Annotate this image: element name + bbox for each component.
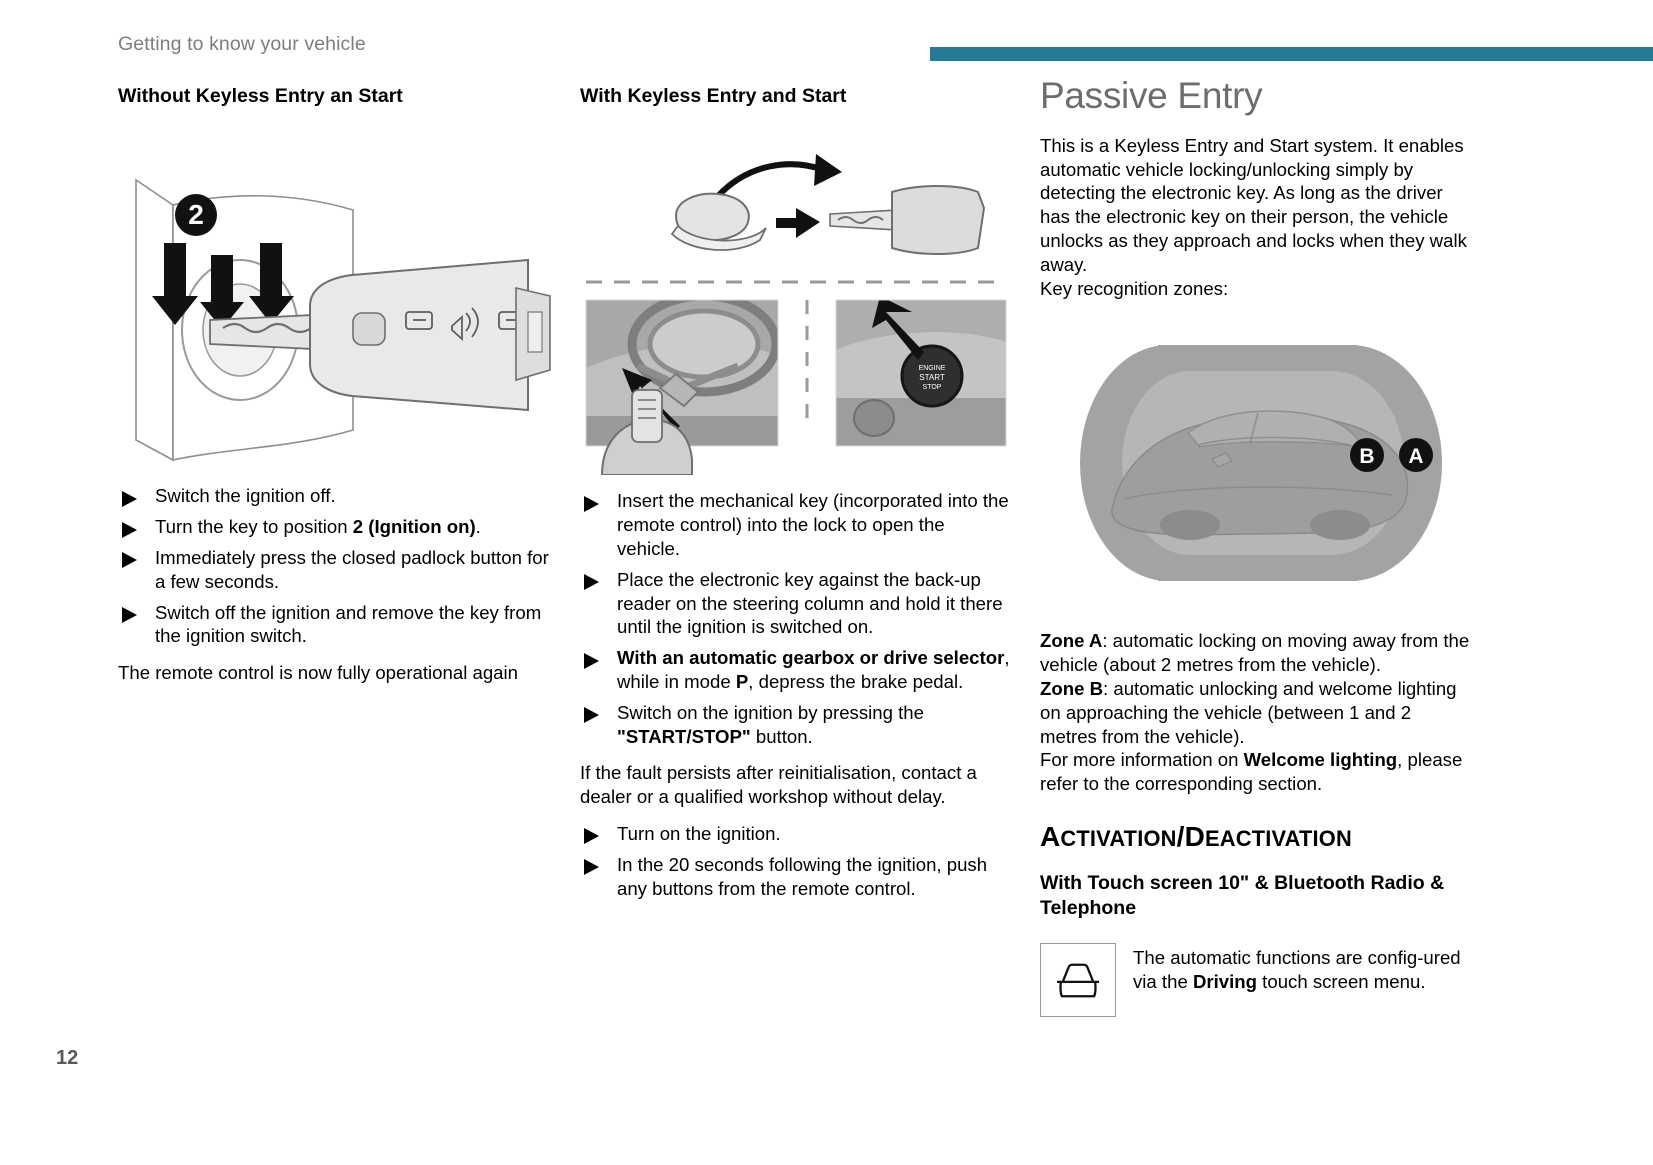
welcome-lighting-term: Welcome lighting [1244,749,1398,770]
page-title: Passive Entry [1040,77,1473,116]
svg-text:2: 2 [188,199,204,230]
key-recognition-zones-diagram: B A [1040,313,1473,613]
step-text: Switch off the ignition and remove the k… [155,602,541,647]
car-front-icon [1040,943,1116,1017]
emphasis-text: P [736,671,748,692]
step-text: Immediately press the closed padlock but… [155,547,549,592]
svg-text:STOP: STOP [923,384,942,391]
key-recognition-zones-label: Key recognition zones: [1040,277,1473,301]
page-number: 12 [56,1047,78,1070]
welcome-lighting-paragraph: For more information on Welcome lighting… [1040,748,1473,796]
step-text: Turn on the ignition. [617,823,781,844]
middle-step-list-secondary: Turn on the ignition.In the 20 seconds f… [580,822,1012,900]
column-left: Without Keyless Entry an Start 2 [118,84,558,698]
passive-entry-intro: This is a Keyless Entry and Start system… [1040,134,1473,277]
step-text: button. [751,726,813,747]
activation-deactivation-heading: ACTIVATION/DEACTIVATION [1040,822,1473,853]
middle-step-item: Turn on the ignition. [580,822,1012,846]
zone-marker-a: A [1408,445,1423,468]
zone-b-text: : automatic unlocking and welcome lighti… [1040,678,1457,747]
middle-step-item: Switch on the ignition by pressing the "… [580,701,1012,749]
touchscreen-subheading: With Touch screen 10" & Bluetooth Radio … [1040,871,1473,921]
left-step-item: Turn the key to position 2 (Ignition on)… [118,515,558,539]
left-closing-paragraph: The remote control is now fully operatio… [118,661,558,685]
column-middle: With Keyless Entry and Start [580,84,1012,913]
step-text: Switch the ignition off. [155,485,336,506]
step-text: Switch on the ignition by pressing the [617,702,924,723]
emphasis-text: 2 (Ignition on) [353,516,476,537]
driving-menu-text: The automatic functions are config-ured … [1133,943,1473,994]
middle-step-item: With an automatic gearbox or drive selec… [580,646,1012,694]
zone-a-label: Zone A [1040,630,1102,651]
step-text: Place the electronic key against the bac… [617,569,1003,638]
heading-slash: / [1177,821,1185,852]
svg-text:START: START [919,373,945,382]
middle-step-item: In the 20 seconds following the ignition… [580,853,1012,901]
deactivation-rest: EACTIVATION [1205,826,1352,851]
deactivation-initial: D [1185,821,1205,852]
header-rule [930,47,1653,61]
activation-rest: CTIVATION [1060,826,1176,851]
driving-menu-note: The automatic functions are config-ured … [1040,943,1473,1017]
activation-initial: A [1040,821,1060,852]
step-text: . [476,516,481,537]
zone-b-description: Zone B: automatic unlocking and welcome … [1040,677,1473,748]
left-column-title: Without Keyless Entry an Start [118,84,558,108]
middle-step-item: Insert the mechanical key (incorporated … [580,489,1012,560]
zone-a-description: Zone A: automatic locking on moving away… [1040,629,1473,677]
svg-text:ENGINE: ENGINE [919,365,946,372]
zone-b-label: Zone B [1040,678,1103,699]
step-text: , depress the brake pedal. [748,671,963,692]
middle-step-list-primary: Insert the mechanical key (incorporated … [580,489,1012,748]
middle-step-item: Place the electronic key against the bac… [580,568,1012,639]
keyless-start-illustration: ENGINE START STOP [580,130,1012,475]
left-step-list: Switch the ignition off.Turn the key to … [118,484,558,648]
left-step-item: Switch the ignition off. [118,484,558,508]
left-step-item: Immediately press the closed padlock but… [118,546,558,594]
left-step-item: Switch off the ignition and remove the k… [118,601,558,649]
step-text: In the 20 seconds following the ignition… [617,854,987,899]
running-head: Getting to know your vehicle [118,33,366,56]
emphasis-text: With an automatic gearbox or drive selec… [617,647,1004,668]
column-right: Passive Entry This is a Keyless Entry an… [1040,84,1473,1017]
welcome-prefix: For more information on [1040,749,1244,770]
driving-note-suffix: touch screen menu. [1257,971,1425,992]
middle-column-title: With Keyless Entry and Start [580,84,1012,108]
emphasis-text: "START/STOP" [617,726,751,747]
key-in-ignition-barrel-illustration: 2 [118,130,558,470]
driving-term: Driving [1193,971,1257,992]
middle-interstitial-paragraph: If the fault persists after reinitialisa… [580,761,1012,809]
zone-marker-b: B [1359,445,1374,468]
step-text: Turn the key to position [155,516,353,537]
zone-a-text: : automatic locking on moving away from … [1040,630,1469,675]
step-text: Insert the mechanical key (incorporated … [617,490,1009,559]
